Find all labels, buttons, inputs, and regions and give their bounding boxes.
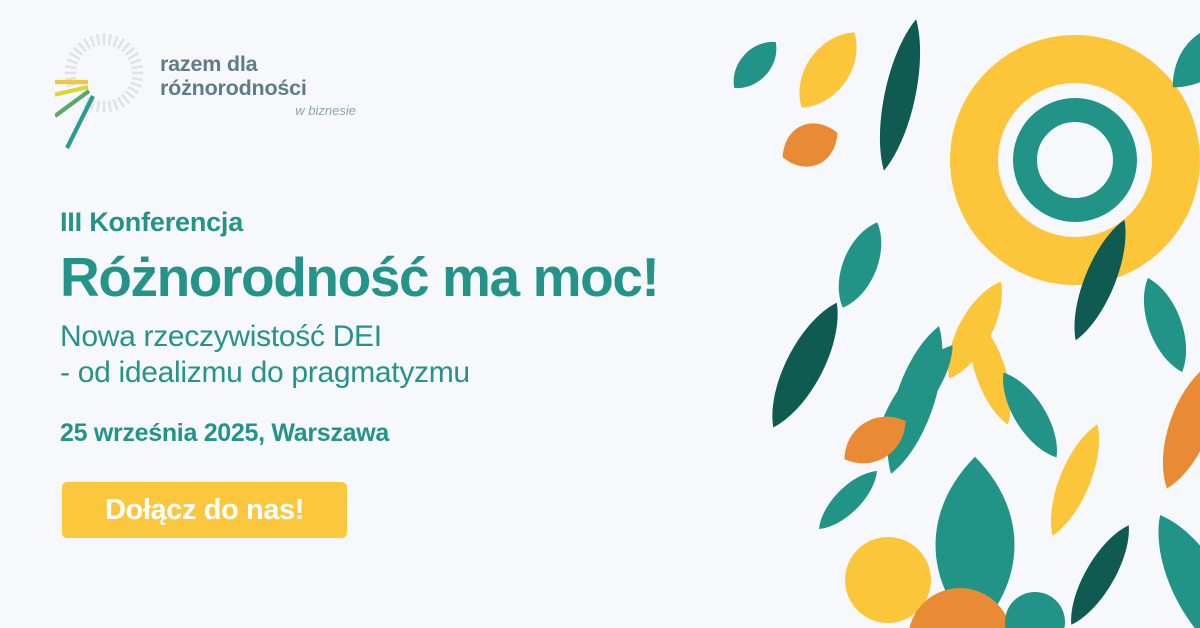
logo-line-1: razem dla [160,52,360,76]
subtitle-line-1: Nowa rzeczywistość DEI [60,319,720,355]
conference-copy-block: III Konferencja Różnorodność ma moc! Now… [60,205,720,449]
page-title: Różnorodność ma moc! [60,245,720,309]
brand-logo[interactable]: razem dla różnorodności w biznesie [55,30,355,160]
join-us-button[interactable]: Dołącz do nas! [62,482,347,538]
logo-line-2: różnorodności [160,76,360,100]
leaf-group-lower [810,320,1200,628]
teal-circle [1005,592,1065,628]
leaf-group-top [723,16,931,176]
concentric-ring-large [974,59,1176,261]
conference-edition-label: III Konferencja [60,205,720,239]
date-location-text: 25 września 2025, Warszawa [60,417,720,449]
conference-banner: razem dla różnorodności w biznesie III K… [0,0,1200,628]
subtitle-line-2: - od idealizmu do pragmatyzmu [60,355,720,391]
leaf-pattern-artwork [700,0,1200,628]
logo-tagline: w biznesie [160,103,360,119]
logo-wordmark: razem dla różnorodności w biznesie [160,52,360,119]
sunburst-ring-icon [55,30,165,155]
